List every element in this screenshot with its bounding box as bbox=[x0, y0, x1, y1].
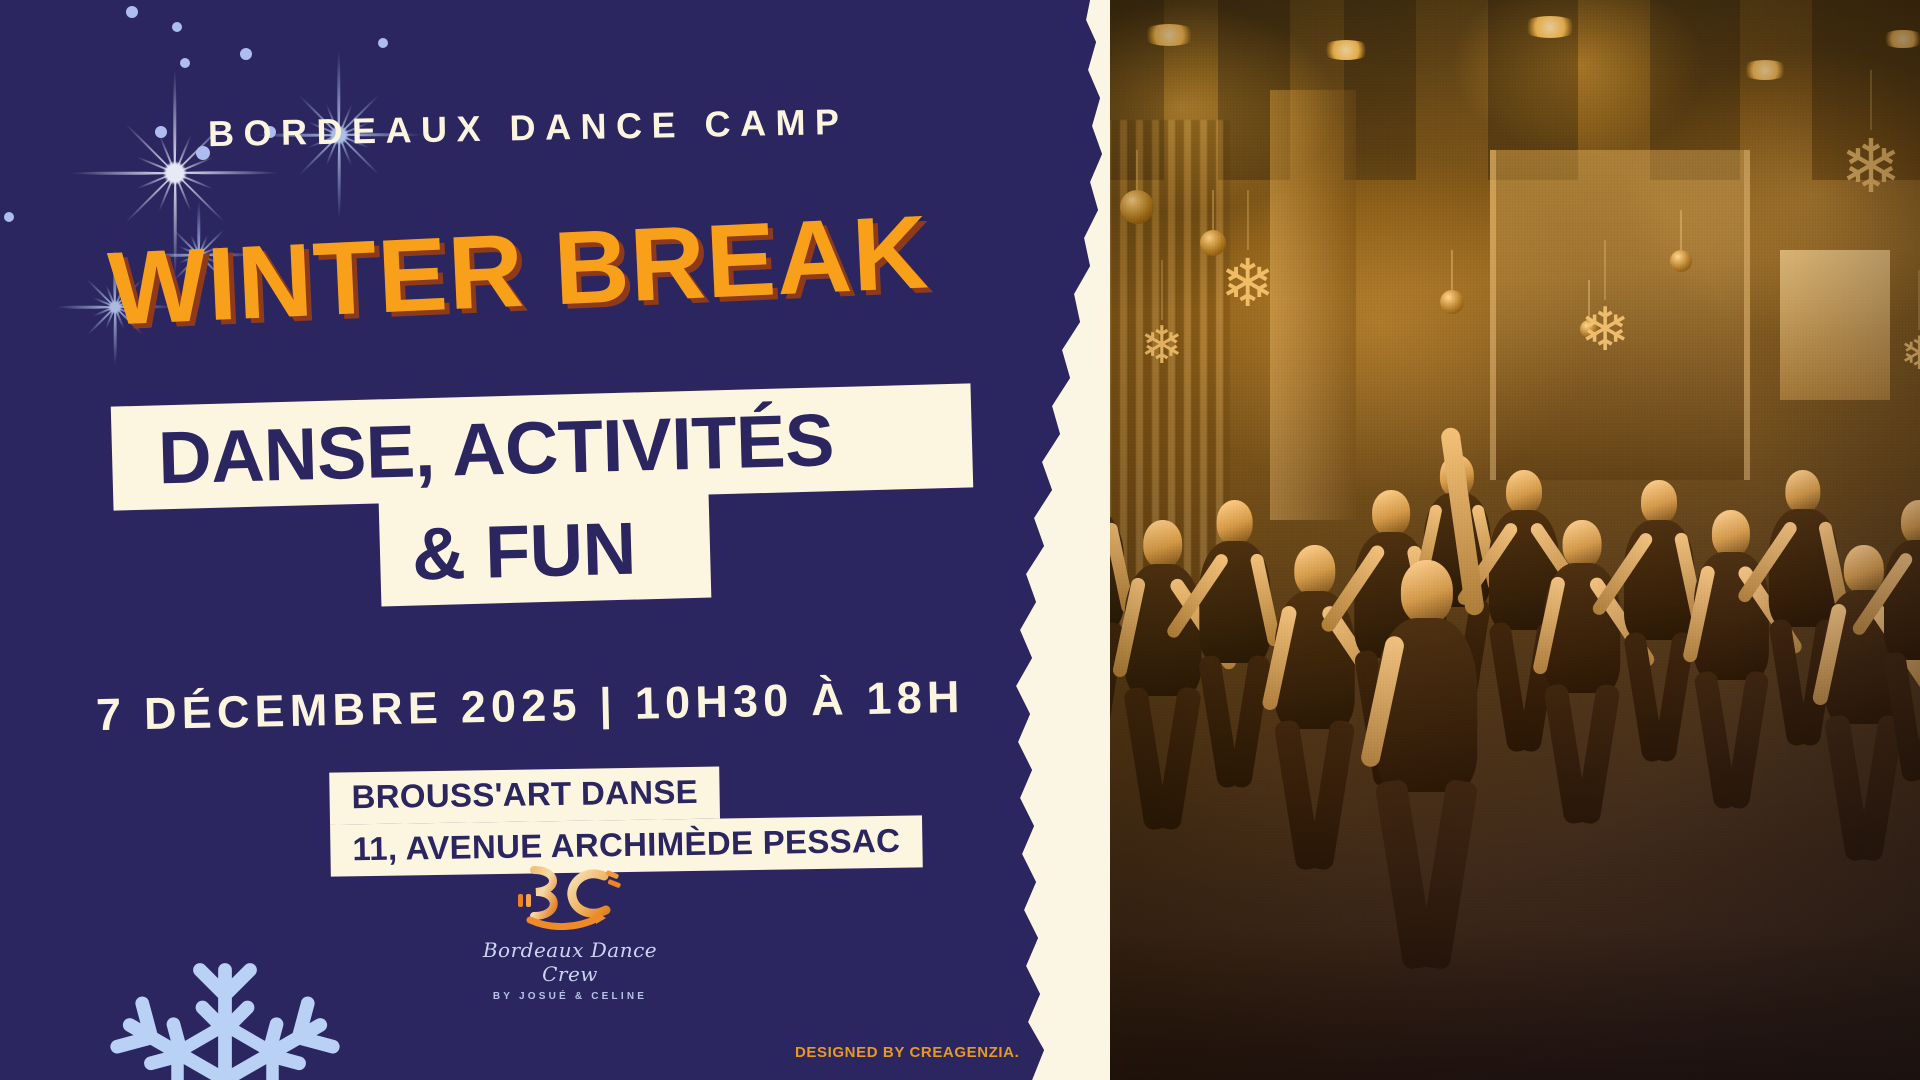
poster-headline: WINTER BREAK bbox=[106, 193, 931, 349]
subtitle-band-primary: DANSE, ACTIVITÉS bbox=[111, 383, 973, 510]
logo-monogram-icon bbox=[500, 860, 640, 930]
poster-root: BORDEAUX DANCE CAMP WINTER BREAK DANSE, … bbox=[0, 0, 1920, 1080]
design-credit: DESIGNED BY CREAGENZIA. bbox=[795, 1044, 1019, 1061]
venue-name: BROUSS'ART DANSE bbox=[329, 767, 720, 825]
brand-logo: Bordeaux Dance Crew BY JOSUÉ & CELINE bbox=[455, 860, 685, 1002]
subtitle-band-secondary: & FUN bbox=[379, 494, 712, 607]
subtitle-line-1: DANSE, ACTIVITÉS bbox=[157, 397, 835, 500]
subtitle-line-2: & FUN bbox=[411, 505, 637, 596]
poster-content: BORDEAUX DANCE CAMP WINTER BREAK DANSE, … bbox=[0, 0, 1920, 1080]
event-dateline: 7 DÉCEMBRE 2025 | 10H30 À 18H bbox=[96, 671, 966, 741]
poster-kicker: BORDEAUX DANCE CAMP bbox=[208, 101, 849, 155]
logo-byline: BY JOSUÉ & CELINE bbox=[455, 991, 685, 1002]
logo-script-text: Bordeaux Dance Crew bbox=[455, 938, 685, 986]
